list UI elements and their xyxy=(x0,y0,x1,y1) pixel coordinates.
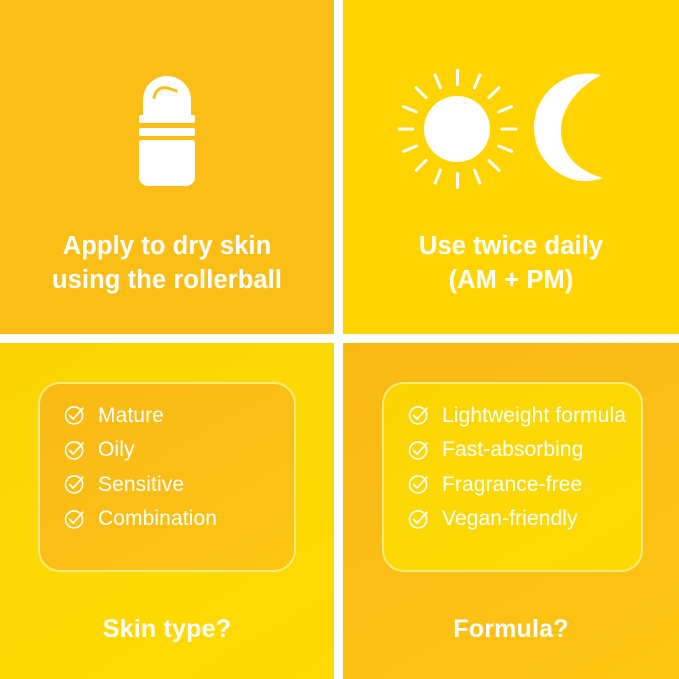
sun-ray xyxy=(496,105,513,114)
skin-type-item: Oily xyxy=(64,439,294,461)
sun-ray xyxy=(397,128,414,131)
sun-core xyxy=(424,96,490,162)
formula-card: Lightweight formulaFast-absorbingFragran… xyxy=(382,382,643,572)
sun-ray xyxy=(486,158,500,172)
formula-item: Fragrance-free xyxy=(408,473,641,495)
check-circle-icon xyxy=(408,508,430,530)
rollerball-ring-upper xyxy=(139,115,195,123)
sun-icon xyxy=(396,68,518,190)
formula-item-label: Lightweight formula xyxy=(442,405,626,426)
sun-ray xyxy=(414,86,428,100)
sun-ray xyxy=(500,128,517,131)
skin-type-item: Combination xyxy=(64,508,294,530)
sun-ray xyxy=(401,144,418,153)
sun-moon-icon-group xyxy=(396,66,626,196)
sun-ray xyxy=(472,168,481,185)
sun-ray xyxy=(456,172,459,189)
skin-type-item-label: Combination xyxy=(98,508,217,529)
sun-ray xyxy=(433,168,442,185)
formula-list: Lightweight formulaFast-absorbingFragran… xyxy=(408,404,641,530)
panel-skin-type: MatureOilySensitiveCombination Skin type… xyxy=(0,343,334,679)
formula-item-label: Fast-absorbing xyxy=(442,439,583,460)
formula-item-label: Fragrance-free xyxy=(442,474,582,495)
skin-type-item-label: Oily xyxy=(98,439,135,460)
check-circle-icon xyxy=(408,404,430,426)
rollerball-ring-lower xyxy=(139,128,195,136)
sun-moon-icon-area xyxy=(343,56,679,206)
panel-usage-frequency: Use twice daily (AM + PM) xyxy=(343,0,679,334)
check-circle-icon xyxy=(408,473,430,495)
formula-item: Lightweight formula xyxy=(408,404,641,426)
formula-item-label: Vegan-friendly xyxy=(442,508,578,529)
sun-ray xyxy=(486,86,500,100)
panel-apply-instructions: Apply to dry skin using the rollerball xyxy=(0,0,334,334)
apply-caption: Apply to dry skin using the rollerball xyxy=(8,230,326,297)
skin-type-item-label: Sensitive xyxy=(98,474,184,495)
formula-label: Formula? xyxy=(351,615,671,644)
info-grid: Apply to dry skin using the rollerball U… xyxy=(0,0,679,679)
rollerball-icon xyxy=(135,76,199,186)
check-circle-icon xyxy=(408,439,430,461)
skin-type-item: Mature xyxy=(64,404,294,426)
sun-ray xyxy=(496,144,513,153)
formula-item: Fast-absorbing xyxy=(408,439,641,461)
formula-item: Vegan-friendly xyxy=(408,508,641,530)
check-circle-icon xyxy=(64,404,86,426)
usage-caption: Use twice daily (AM + PM) xyxy=(351,230,671,297)
check-circle-icon xyxy=(64,439,86,461)
skin-type-item-label: Mature xyxy=(98,405,164,426)
sun-ray xyxy=(472,73,481,90)
moon-icon xyxy=(528,72,620,182)
rollerball-icon-area xyxy=(0,56,334,206)
sun-ray xyxy=(414,158,428,172)
check-circle-icon xyxy=(64,473,86,495)
sun-ray xyxy=(456,69,459,86)
skin-type-list: MatureOilySensitiveCombination xyxy=(64,404,294,530)
skin-type-label: Skin type? xyxy=(8,615,326,644)
sun-ray xyxy=(433,73,442,90)
skin-type-item: Sensitive xyxy=(64,473,294,495)
rollerball-body xyxy=(139,140,195,186)
skin-type-card: MatureOilySensitiveCombination xyxy=(38,382,296,572)
panel-formula: Lightweight formulaFast-absorbingFragran… xyxy=(343,343,679,679)
check-circle-icon xyxy=(64,508,86,530)
sun-ray xyxy=(401,105,418,114)
